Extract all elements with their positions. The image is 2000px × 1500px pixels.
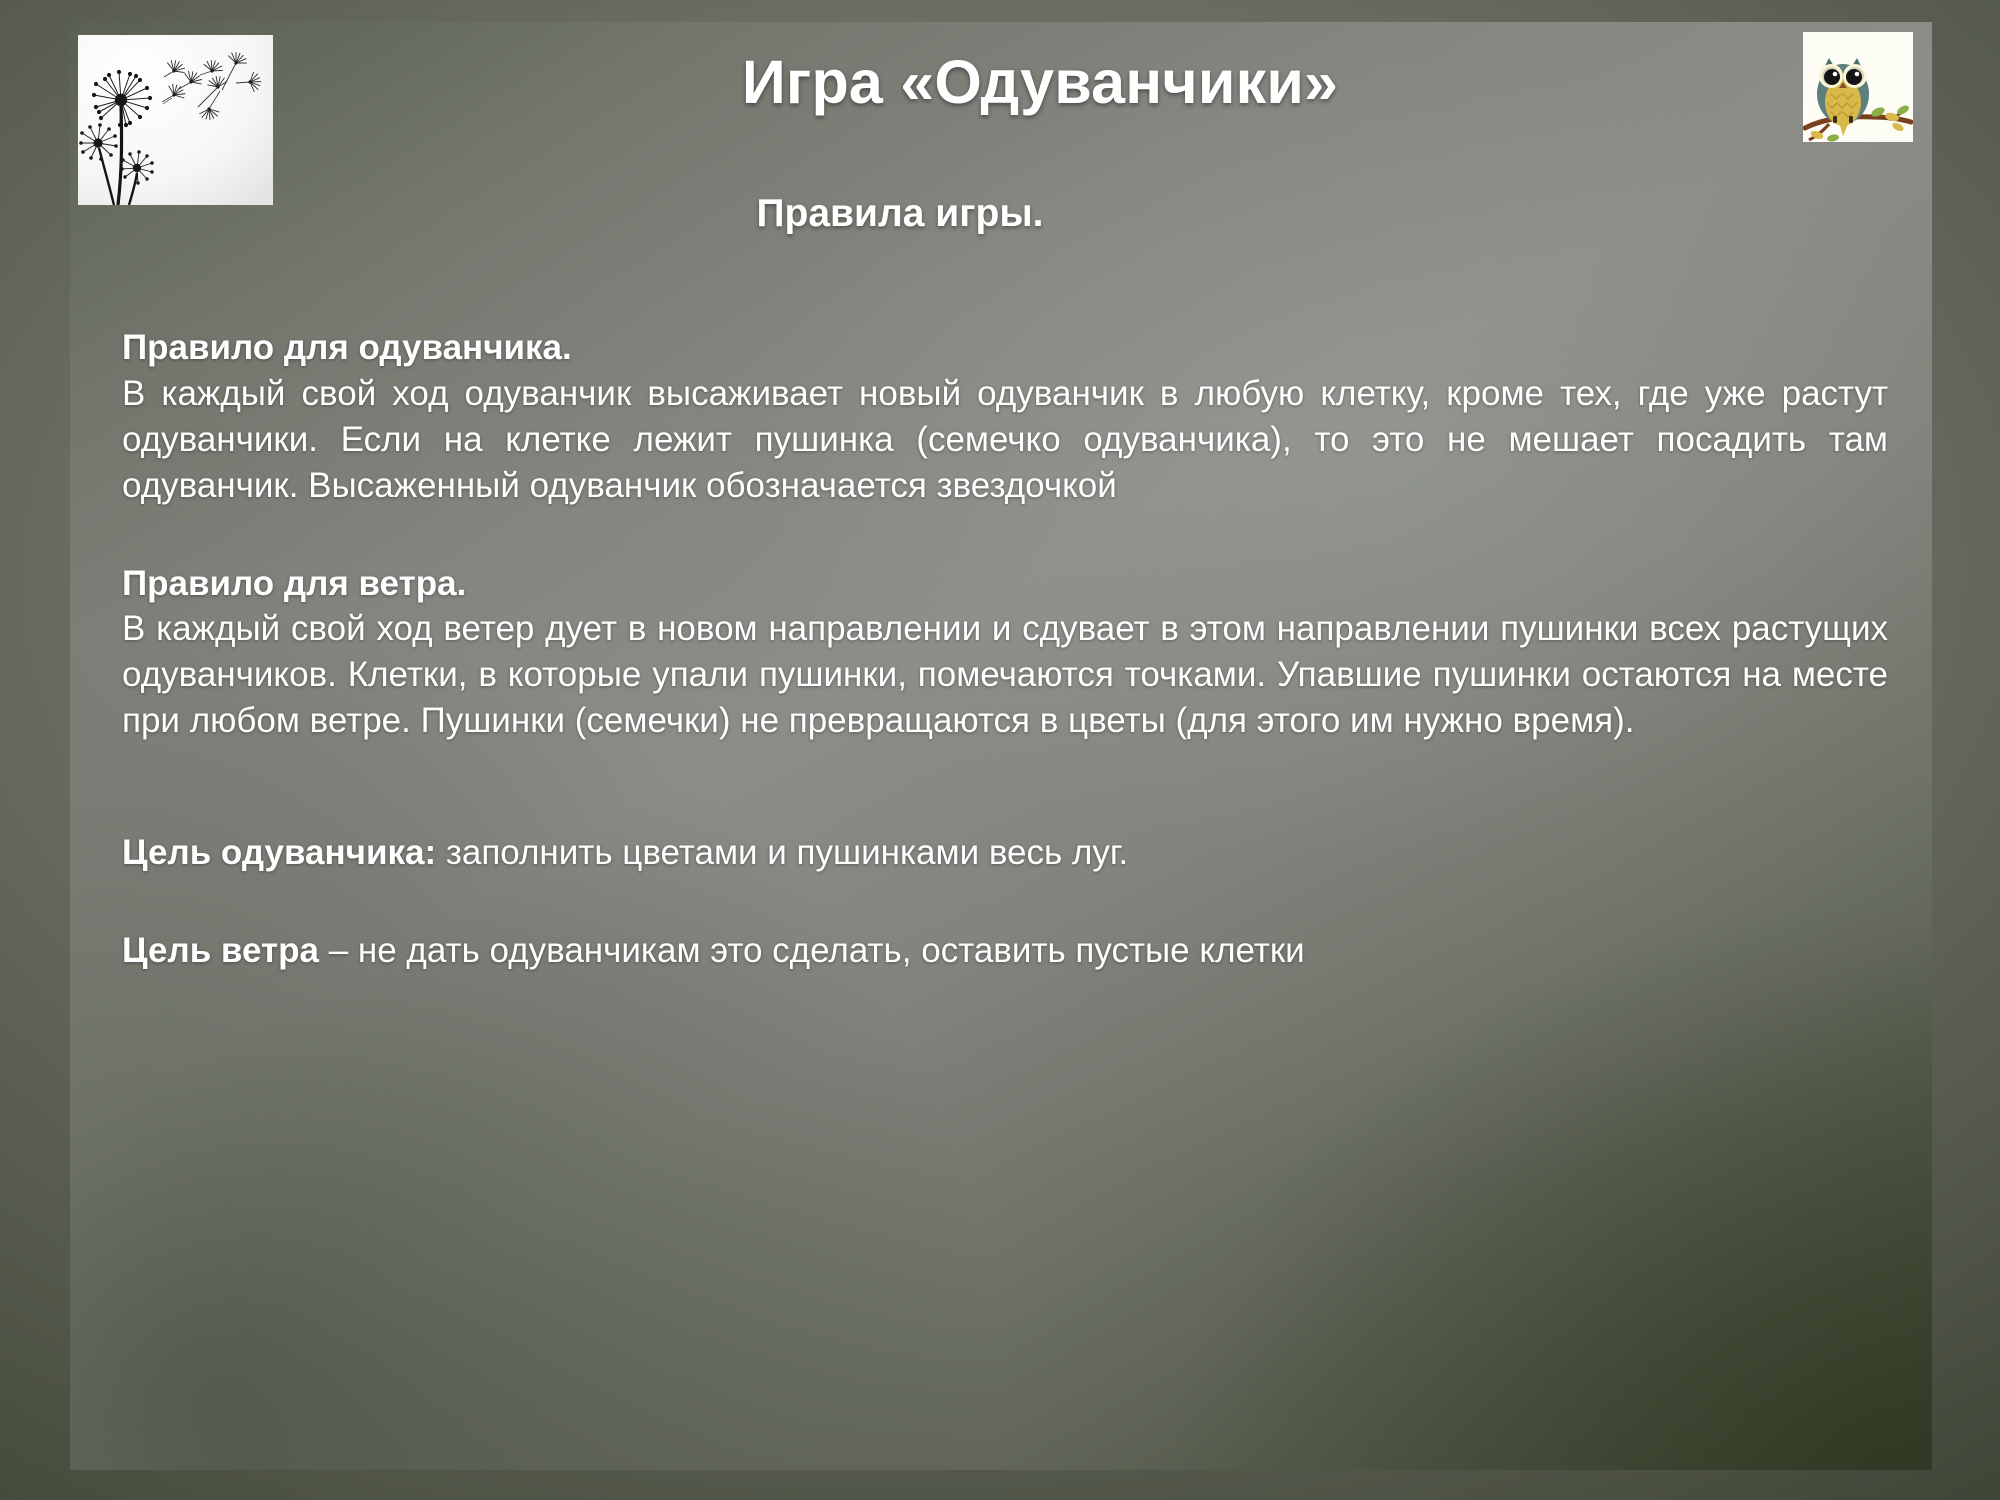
goal-dandelion: Цель одуванчика: заполнить цветами и пуш… xyxy=(122,830,1888,876)
rule-block-wind: Правило для ветра. В каждый свой ход вет… xyxy=(122,561,1888,745)
goal-dandelion-label: Цель одуванчика: xyxy=(122,833,436,872)
spacer-between-rules xyxy=(122,509,1888,561)
rule-block-dandelion: Правило для одуванчика. В каждый свой хо… xyxy=(122,325,1888,509)
rule-heading-wind: Правило для ветра. xyxy=(122,561,1888,607)
goal-wind-value: – не дать одуванчикам это сделать, остав… xyxy=(319,931,1305,970)
rule-heading-dandelion: Правило для одуванчика. xyxy=(122,325,1888,371)
dandelion-photo xyxy=(78,35,273,205)
rule-text-wind: В каждый свой ход ветер дует в новом нап… xyxy=(122,606,1888,744)
owl-icon-image xyxy=(1803,32,1913,142)
page-title: Игра «Одуванчики» xyxy=(300,50,1780,114)
presentation-slide: Игра «Одуванчики» Правила игры. Правило … xyxy=(0,0,2000,1500)
spacer-between-goals xyxy=(122,876,1888,928)
goal-wind-label: Цель ветра xyxy=(122,931,319,970)
goal-wind: Цель ветра – не дать одуванчикам это сде… xyxy=(122,928,1888,974)
slide-body: Правило для одуванчика. В каждый свой хо… xyxy=(122,325,1888,973)
rule-text-dandelion: В каждый свой ход одуванчик высаживает н… xyxy=(122,371,1888,509)
spacer-before-goals xyxy=(122,744,1888,830)
goal-dandelion-value: заполнить цветами и пушинками весь луг. xyxy=(436,833,1128,872)
slide-subtitle: Правила игры. xyxy=(300,192,1500,236)
